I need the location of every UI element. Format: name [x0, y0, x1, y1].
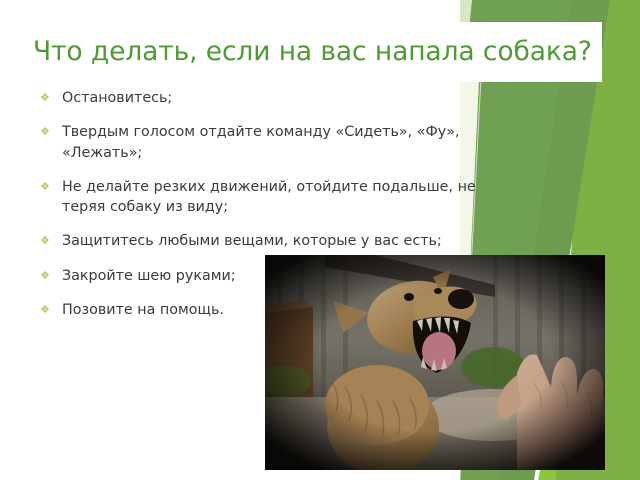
diamond-bullet-icon: ❖: [40, 177, 62, 192]
diamond-bullet-icon: ❖: [40, 300, 62, 315]
slide-canvas: Что делать, если на вас напала собака? ❖…: [0, 0, 640, 480]
dog-photo: [265, 255, 605, 470]
list-item-label: Не делайте резких движений, отойдите под…: [62, 177, 520, 218]
diamond-bullet-icon: ❖: [40, 266, 62, 281]
dog-photo-illustration: [265, 255, 605, 470]
list-item-label: Остановитесь;: [62, 88, 520, 108]
diamond-bullet-icon: ❖: [40, 122, 62, 137]
photo-tone-overlay: [265, 255, 605, 470]
page-title: Что делать, если на вас напала собака?: [0, 37, 592, 67]
title-plate: Что делать, если на вас напала собака?: [0, 22, 602, 82]
list-item: ❖ Защититесь любыми вещами, которые у ва…: [40, 231, 520, 251]
list-item-label: Защититесь любыми вещами, которые у вас …: [62, 231, 520, 251]
list-item: ❖ Твердым голосом отдайте команду «Сидет…: [40, 122, 520, 163]
list-item: ❖ Не делайте резких движений, отойдите п…: [40, 177, 520, 218]
diamond-bullet-icon: ❖: [40, 231, 62, 246]
list-item: ❖ Остановитесь;: [40, 88, 520, 108]
list-item-label: Твердым голосом отдайте команду «Сидеть»…: [62, 122, 520, 163]
diamond-bullet-icon: ❖: [40, 88, 62, 103]
